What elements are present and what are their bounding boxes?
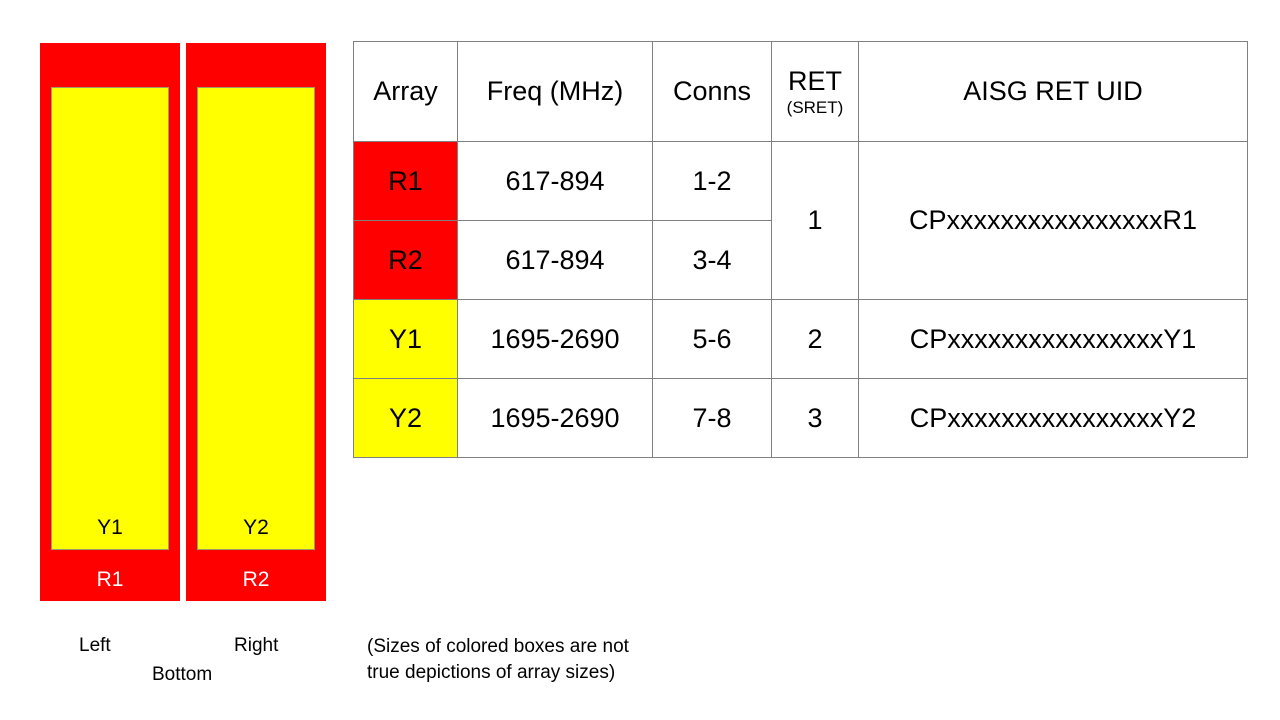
table-row: Y1 1695-2690 5-6 2 CPxxxxxxxxxxxxxxxxY1	[354, 300, 1248, 379]
red-array-label-r2: R2	[187, 567, 325, 592]
cell-conns-y2: 7-8	[653, 379, 772, 458]
column-header-conns: Conns	[653, 42, 772, 142]
edge-label-right: Right	[234, 634, 278, 657]
diagram-footnote-line-1: (Sizes of colored boxes are not	[367, 634, 787, 660]
cell-array-r2: R2	[354, 221, 458, 300]
array-column-right: Y2 R2	[186, 43, 326, 601]
cell-freq-r2: 617-894	[458, 221, 653, 300]
column-header-ret: RET (SRET)	[772, 42, 859, 142]
cell-conns-r2: 3-4	[653, 221, 772, 300]
table-row: R1 617-894 1-2 1 CPxxxxxxxxxxxxxxxxR1	[354, 142, 1248, 221]
cell-conns-y1: 5-6	[653, 300, 772, 379]
yellow-array-label-y1: Y1	[52, 515, 168, 540]
column-header-aisg-ret-uid: AISG RET UID	[859, 42, 1248, 142]
cell-freq-r1: 617-894	[458, 142, 653, 221]
yellow-array-y2: Y2	[197, 87, 315, 550]
column-header-freq: Freq (MHz)	[458, 42, 653, 142]
cell-array-y2: Y2	[354, 379, 458, 458]
yellow-array-label-y2: Y2	[198, 515, 314, 540]
cell-uid-r1: CPxxxxxxxxxxxxxxxxR1	[859, 142, 1248, 300]
column-header-ret-main: RET	[772, 65, 858, 97]
array-diagram: Y1 R1 Y2 R2 Left Right Bottom	[0, 0, 353, 720]
cell-conns-r1: 1-2	[653, 142, 772, 221]
cell-uid-y2: CPxxxxxxxxxxxxxxxxY2	[859, 379, 1248, 458]
yellow-array-y1: Y1	[51, 87, 169, 550]
cell-freq-y1: 1695-2690	[458, 300, 653, 379]
cell-ret-2: 2	[772, 300, 859, 379]
ret-configuration-table: Array Freq (MHz) Conns RET (SRET) AISG R…	[353, 41, 1248, 458]
diagram-footnote: (Sizes of colored boxes are not true dep…	[367, 634, 787, 686]
table-header-row: Array Freq (MHz) Conns RET (SRET) AISG R…	[354, 42, 1248, 142]
red-array-label-r1: R1	[41, 567, 179, 592]
cell-ret-1: 1	[772, 142, 859, 300]
cell-array-r1: R1	[354, 142, 458, 221]
diagram-footnote-line-2: true depictions of array sizes)	[367, 660, 787, 686]
cell-array-y1: Y1	[354, 300, 458, 379]
table-row: Y2 1695-2690 7-8 3 CPxxxxxxxxxxxxxxxxY2	[354, 379, 1248, 458]
edge-label-left: Left	[79, 634, 111, 657]
cell-freq-y2: 1695-2690	[458, 379, 653, 458]
cell-uid-y1: CPxxxxxxxxxxxxxxxxY1	[859, 300, 1248, 379]
edge-label-bottom: Bottom	[152, 663, 212, 686]
array-column-left: Y1 R1	[40, 43, 180, 601]
column-header-ret-sub: (SRET)	[772, 97, 858, 118]
cell-ret-3: 3	[772, 379, 859, 458]
column-header-array: Array	[354, 42, 458, 142]
